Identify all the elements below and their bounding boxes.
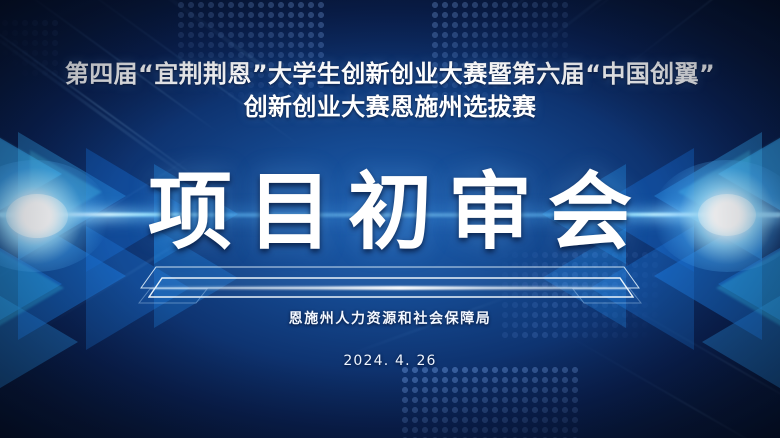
organizer-label: 恩施州人力资源和社会保障局: [0, 310, 780, 328]
subtitle-line-2: 创新创业大赛恩施州选拔赛: [0, 92, 780, 122]
poster-canvas: 第四届“宜荆荆恩”大学生创新创业大赛暨第六届“中国创翼” 创新创业大赛恩施州选拔…: [0, 0, 780, 438]
main-title: 项目初审会: [0, 164, 780, 260]
poster-content: 第四届“宜荆荆恩”大学生创新创业大赛暨第六届“中国创翼” 创新创业大赛恩施州选拔…: [0, 0, 780, 438]
event-date: 2024. 4. 26: [0, 352, 780, 370]
subtitle-line-1: 第四届“宜荆荆恩”大学生创新创业大赛暨第六届“中国创翼”: [0, 59, 780, 89]
